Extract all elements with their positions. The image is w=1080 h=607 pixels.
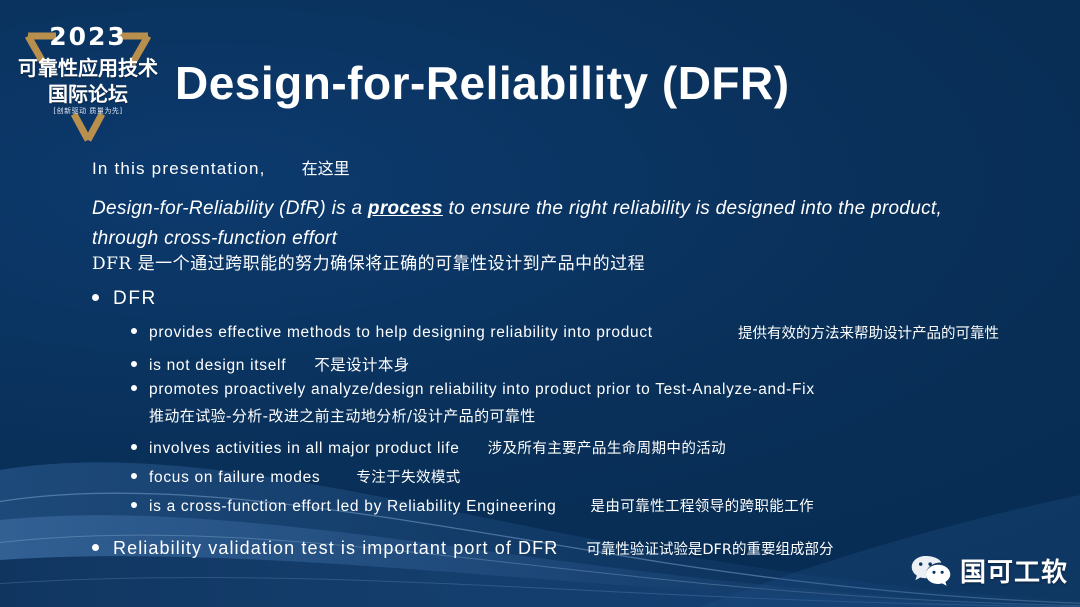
bullet-involves-activities: involves activities in all major product… [131,437,726,458]
intro-chinese: 在这里 [302,159,350,178]
bullet-not-design-itself-chinese: 不是设计本身 [314,356,409,374]
bullet-dot-icon [131,502,137,508]
bullet-dot-icon [92,544,99,551]
bullet-dot-icon [131,361,137,367]
bullet-dot-icon [131,444,137,450]
bullet-reliability-validation-test-label: Reliability validation test is important… [113,538,558,558]
bullet-not-design-itself: is not design itself不是设计本身 [131,353,410,375]
bullet-cross-function-effort-label: is a cross-function effort led by Reliab… [149,498,557,515]
bullet-promotes-proactively: promotes proactively analyze/design reli… [131,381,815,399]
bullet-provides-methods: provides effective methods to help desig… [131,324,653,342]
bullet-provides-methods-label: provides effective methods to help desig… [149,324,653,341]
bullet-focus-failure-modes-label: focus on failure modes [149,469,320,486]
bullet-involves-activities-chinese: 涉及所有主要产品生命周期中的活动 [488,441,726,457]
bullet-cross-function-effort-chinese: 是由可靠性工程领导的跨职能工作 [591,499,815,515]
slide: 2023 可靠性应用技术 国际论坛 [创新驱动 质量为先] Design-for… [0,0,1080,607]
slide-body: In this presentation,在这里 Design-for-Reli… [0,0,1080,607]
bullet-involves-activities-label: involves activities in all major product… [149,440,460,457]
bullet-dot-icon [131,328,137,334]
bullet-focus-failure-modes-chinese: 专注于失效模式 [356,470,460,486]
bullet-cross-function-effort: is a cross-function effort led by Reliab… [131,495,814,516]
bullet-dfr: DFR [92,288,157,310]
bullet-reliability-validation-test: Reliability validation test is important… [92,538,833,559]
bullet-dot-icon [131,385,137,391]
bullet-promotes-proactively-chinese: 推动在试验-分析-改进之前主动地分析/设计产品的可靠性 [149,405,536,426]
bullet-not-design-itself-label: is not design itself [149,357,286,374]
bullet-provides-methods-chinese: 提供有效的方法来帮助设计产品的可靠性 [738,322,999,343]
watermark-text: 国可工软 [960,552,1068,589]
bullet-focus-failure-modes: focus on failure modes专注于失效模式 [131,466,461,487]
intro-line: In this presentation,在这里 [92,155,350,179]
bullet-dfr-label: DFR [113,288,157,309]
definition-chinese: DFR 是一个通过跨职能的努力确保将正确的可靠性设计到产品中的过程 [92,249,645,274]
bullet-promotes-proactively-label: promotes proactively analyze/design reli… [149,381,815,398]
definition-text: Design-for-Reliability (DfR) is a proces… [92,194,982,254]
watermark: 国可工软 [910,552,1068,589]
definition-emphasis: process [368,198,443,219]
intro-english: In this presentation, [92,159,266,178]
bullet-reliability-validation-test-chinese: 可靠性验证试验是DFR的重要组成部分 [586,542,833,558]
wechat-icon [910,553,952,589]
definition-part1: Design-for-Reliability (DfR) is a [92,198,368,219]
bullet-dot-icon [131,473,137,479]
bullet-dot-icon [92,294,99,301]
